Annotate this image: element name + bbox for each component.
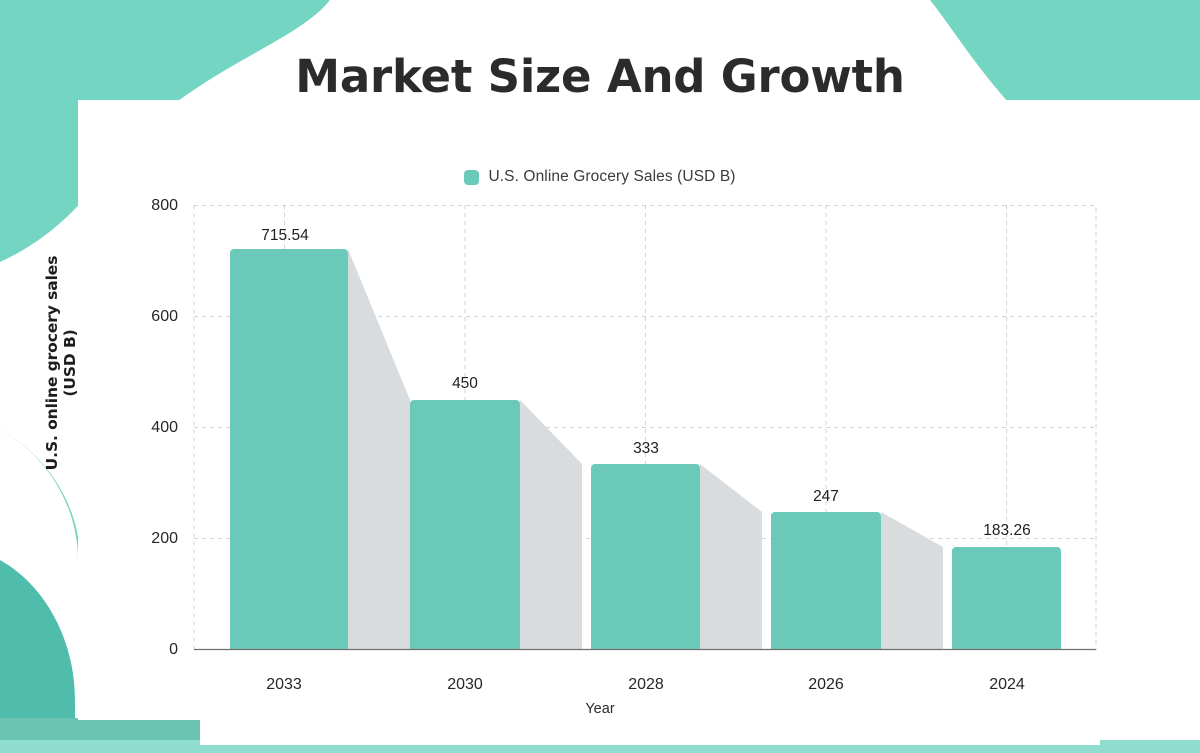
data-label-2030: 450 (400, 375, 530, 393)
data-label-2033: 715.54 (220, 227, 350, 245)
chart-slide: Market Size And Growth U.S. Online Groce… (0, 0, 1200, 753)
connector-2026-2024 (881, 512, 943, 649)
bar-2028 (591, 464, 700, 649)
y-tick-label-0: 0 (118, 641, 178, 659)
x-tick-label-2026: 2026 (766, 676, 886, 694)
y-axis-title: U.S. online grocery sales (USD B) (43, 233, 79, 493)
legend-swatch-icon (464, 170, 479, 185)
plot-svg (0, 0, 1200, 753)
data-label-2026: 247 (761, 488, 891, 506)
data-label-2028: 333 (581, 440, 711, 458)
x-axis-title: Year (0, 701, 1200, 717)
y-tick-label-200: 200 (118, 530, 178, 548)
connector-2033-2030 (348, 249, 410, 649)
x-tick-label-2030: 2030 (405, 676, 525, 694)
connector-2030-2028 (520, 400, 582, 649)
y-tick-label-400: 400 (118, 419, 178, 437)
legend-label: U.S. Online Grocery Sales (USD B) (488, 168, 735, 186)
y-tick-label-800: 800 (118, 197, 178, 215)
chart-legend: U.S. Online Grocery Sales (USD B) (0, 168, 1200, 186)
x-tick-label-2028: 2028 (586, 676, 706, 694)
bar-2024 (952, 547, 1061, 649)
x-tick-label-2024: 2024 (947, 676, 1067, 694)
data-label-2024: 183.26 (942, 522, 1072, 540)
page-title: Market Size And Growth (0, 52, 1200, 102)
bar-2030 (410, 400, 520, 649)
y-tick-label-600: 600 (118, 308, 178, 326)
x-tick-label-2033: 2033 (224, 676, 344, 694)
bar-2033 (230, 249, 348, 649)
plot-area: U.S. online grocery sales (USD B) 0 200 … (0, 0, 1200, 753)
bar-2026 (771, 512, 881, 649)
connector-2028-2026 (700, 464, 762, 649)
